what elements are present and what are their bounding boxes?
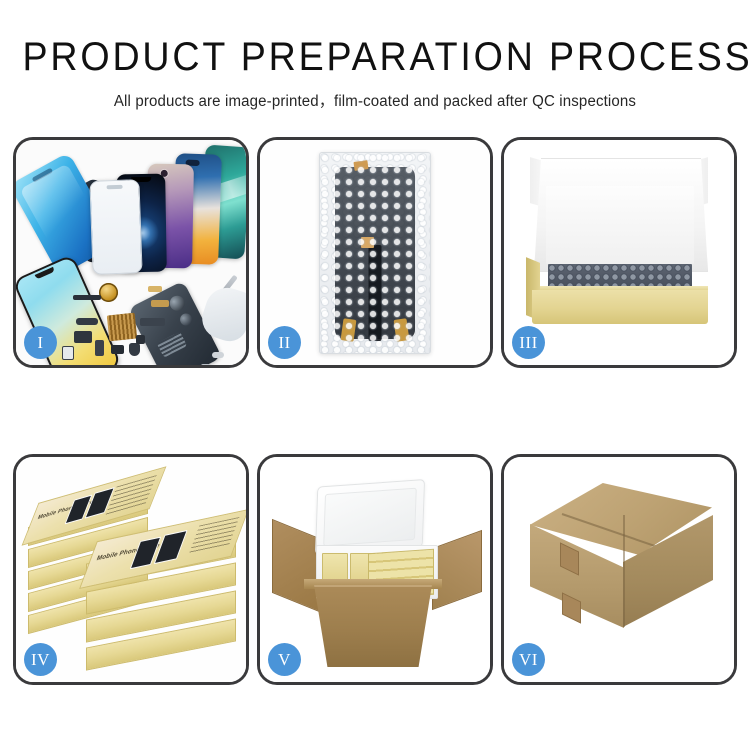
bubble-wrap-bag [319,152,431,354]
panel-bubble-wrapped-screen: II [257,137,493,368]
part-screw-l [212,352,224,358]
box-stack: Mobile Phone Spare Parts Mobile Phone Sp… [24,473,244,673]
part-flex-cable-a [73,295,101,300]
panel-sealed-carton: VI [501,454,737,685]
carton-body [306,585,440,667]
process-step-grid: I II [13,137,737,685]
screen-flex-cable [369,245,382,341]
page-header: PRODUCT PREPARATION PROCESS All products… [0,0,750,111]
box-spec-textlines [105,475,157,516]
part-connector-c [74,331,92,343]
chassis-camera-lens-1 [167,293,187,313]
part-sim-tray [62,346,74,360]
step-badge-6: VI [512,643,545,676]
part-connector-e [111,345,124,354]
page-title: PRODUCT PREPARATION PROCESS [23,36,728,78]
box-spec-textlines [189,517,240,554]
step-badge-4: IV [24,643,57,676]
part-gold-flex-j [148,286,162,292]
foam-box-lid [315,479,425,555]
carton-flap-left [272,519,322,613]
part-screw-m [201,364,210,365]
foam-sheet [546,186,694,264]
step-badge-1: I [24,326,57,359]
part-flex-cable-g [140,318,165,326]
step-badge-3: III [512,326,545,359]
panel-inner-box-packing: III [501,137,737,368]
tape-middle [361,237,374,248]
phone-large-notch [35,267,55,280]
panel-product-overview: I [13,137,249,368]
film-notch [32,168,54,183]
part-connector-d [95,340,104,356]
page-subtitle: All products are image-printed，film-coat… [11,89,739,111]
part-gold-coil [99,283,118,302]
step-badge-2: II [268,326,301,359]
panel-boxed-stack: Mobile Phone Spare Parts Mobile Phone Sp… [13,454,249,685]
part-grid-chip [107,313,138,342]
part-chip-h [136,335,145,344]
chassis-camera-lens-2 [178,311,194,327]
panel-carton-loading: V [257,454,493,685]
box-window-screen-1 [130,537,162,570]
part-speaker-f [129,343,140,356]
part-gold-flex-i [151,300,169,307]
tape-top [353,160,368,171]
carton-vertical-edge [623,515,625,627]
step-badge-5: V [268,643,301,676]
box-window-screen-2 [154,530,188,564]
chassis-coil [157,332,187,358]
part-flex-cable-b [76,318,98,325]
carton-flap-right [432,530,482,610]
phone-tempered-glass [89,179,142,275]
box-front-panel [532,290,708,324]
